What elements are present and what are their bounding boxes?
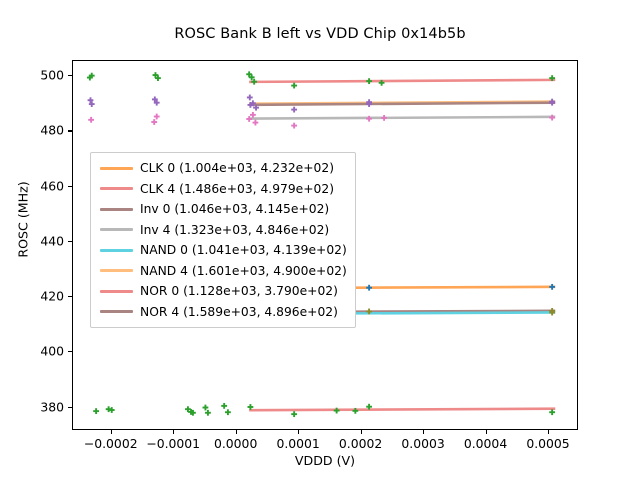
- data-point-marker: [246, 116, 252, 122]
- legend-color-swatch: [100, 187, 133, 190]
- trend-line: [249, 409, 555, 411]
- data-point-marker: [291, 83, 297, 89]
- legend-label: Inv 4 (1.323e+03, 4.846e+02): [140, 223, 329, 237]
- legend-item-nor-4[interactable]: NOR 4 (1.589e+03, 4.896e+02): [97, 302, 347, 323]
- y-axis-label: ROSC (MHz): [16, 160, 31, 280]
- x-tick-mark: [236, 430, 237, 434]
- chart-legend: CLK 0 (1.004e+03, 4.232e+02)CLK 4 (1.486…: [90, 152, 356, 328]
- y-tick-mark: [68, 75, 72, 76]
- legend-color-swatch: [100, 228, 133, 231]
- data-point-marker: [291, 107, 297, 113]
- legend-item-clk-4[interactable]: CLK 4 (1.486e+03, 4.979e+02): [97, 179, 347, 200]
- legend-item-nand-4[interactable]: NAND 4 (1.601e+03, 4.900e+02): [97, 261, 347, 282]
- x-axis-label: VDDD (V): [72, 453, 578, 468]
- trend-line: [249, 80, 555, 82]
- data-point-marker: [221, 403, 227, 409]
- data-point-marker: [225, 409, 231, 415]
- data-point-marker: [549, 284, 555, 290]
- y-tick-label: 500: [4, 68, 64, 83]
- x-tick-mark: [486, 430, 487, 434]
- y-tick-mark: [68, 351, 72, 352]
- data-point-marker: [205, 410, 211, 416]
- legend-label: NAND 4 (1.601e+03, 4.900e+02): [140, 264, 347, 278]
- y-tick-mark: [68, 407, 72, 408]
- x-tick-mark: [298, 430, 299, 434]
- page-title: ROSC Bank B left vs VDD Chip 0x14b5b: [0, 26, 640, 42]
- legend-item-clk-0[interactable]: CLK 0 (1.004e+03, 4.232e+02): [97, 158, 347, 179]
- legend-color-swatch: [100, 290, 133, 293]
- legend-label: CLK 0 (1.004e+03, 4.232e+02): [140, 161, 334, 175]
- y-tick-mark: [68, 241, 72, 242]
- data-point-marker: [247, 95, 253, 101]
- trend-line: [249, 117, 555, 119]
- legend-label: NOR 0 (1.128e+03, 3.790e+02): [140, 284, 338, 298]
- y-tick-label: 460: [4, 178, 64, 193]
- legend-label: CLK 4 (1.486e+03, 4.979e+02): [140, 182, 334, 196]
- y-tick-label: 420: [4, 289, 64, 304]
- y-tick-mark: [68, 186, 72, 187]
- legend-color-swatch: [100, 167, 133, 170]
- legend-item-nand-0[interactable]: NAND 0 (1.041e+03, 4.139e+02): [97, 240, 347, 261]
- legend-color-swatch: [100, 269, 133, 272]
- legend-color-swatch: [100, 310, 133, 313]
- data-point-marker: [291, 123, 297, 129]
- data-point-marker: [151, 119, 157, 125]
- y-tick-label: 400: [4, 344, 64, 359]
- data-point-marker: [203, 405, 209, 411]
- y-tick-mark: [68, 296, 72, 297]
- data-point-marker: [253, 120, 259, 126]
- data-point-marker: [291, 411, 297, 417]
- data-point-marker: [93, 408, 99, 414]
- legend-label: Inv 0 (1.046e+03, 4.145e+02): [140, 202, 329, 216]
- y-tick-label: 380: [4, 399, 64, 414]
- legend-item-nor-0[interactable]: NOR 0 (1.128e+03, 3.790e+02): [97, 281, 347, 302]
- data-point-marker: [366, 78, 372, 84]
- data-point-marker: [88, 117, 94, 123]
- matplotlib-figure: ROSC Bank B left vs VDD Chip 0x14b5b 380…: [0, 0, 640, 480]
- x-tick-mark: [423, 430, 424, 434]
- x-tick-mark: [111, 430, 112, 434]
- legend-label: NAND 0 (1.041e+03, 4.139e+02): [140, 243, 347, 257]
- data-point-marker: [381, 115, 387, 121]
- data-point-marker: [154, 114, 160, 120]
- y-axis-tick-labels: 380400420440460480500: [0, 0, 64, 480]
- data-point-marker: [366, 285, 372, 291]
- legend-item-inv-0[interactable]: Inv 0 (1.046e+03, 4.145e+02): [97, 199, 347, 220]
- legend-color-swatch: [100, 249, 133, 252]
- data-point-marker: [109, 407, 115, 413]
- data-point-marker: [549, 409, 555, 415]
- x-tick-mark: [548, 430, 549, 434]
- legend-color-swatch: [100, 208, 133, 211]
- y-tick-label: 440: [4, 233, 64, 248]
- x-tick-mark: [361, 430, 362, 434]
- y-tick-label: 480: [4, 123, 64, 138]
- x-tick-label: 0.0005: [503, 436, 593, 451]
- legend-item-inv-4[interactable]: Inv 4 (1.323e+03, 4.846e+02): [97, 220, 347, 241]
- data-point-marker: [250, 112, 256, 118]
- y-tick-mark: [68, 130, 72, 131]
- x-tick-mark: [173, 430, 174, 434]
- legend-label: NOR 4 (1.589e+03, 4.896e+02): [140, 305, 338, 319]
